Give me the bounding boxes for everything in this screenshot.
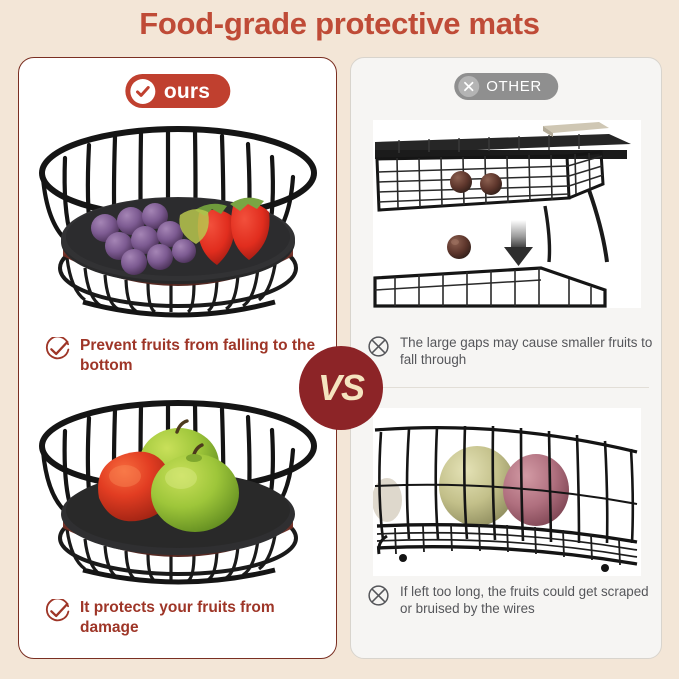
check-circle-icon <box>130 79 155 104</box>
other-drawback-1-text: The large gaps may cause smaller fruits … <box>400 334 655 369</box>
ours-product-photo-apples <box>27 388 329 593</box>
other-drawback-2-text: If left too long, the fruits could get s… <box>400 583 655 618</box>
x-circle-outline-icon <box>367 584 390 612</box>
other-product-photo-bare-wires <box>373 408 641 576</box>
other-panel: OTHER <box>350 57 662 659</box>
ours-benefit-2-text: It protects your fruits from damage <box>80 598 325 638</box>
ours-benefit-1: Prevent fruits from falling to the botto… <box>45 336 325 376</box>
ours-badge: ours <box>125 74 230 108</box>
other-drawback-1: The large gaps may cause smaller fruits … <box>367 334 655 369</box>
other-badge: OTHER <box>454 73 558 100</box>
ours-panel: ours <box>18 57 337 659</box>
x-circle-icon <box>458 76 479 97</box>
vs-badge: VS <box>299 346 383 430</box>
ours-badge-label: ours <box>164 81 210 102</box>
check-circle-outline-icon <box>45 599 70 629</box>
vs-label: VS <box>318 370 364 406</box>
other-badge-label: OTHER <box>486 79 542 94</box>
ours-product-photo-grapes <box>27 118 329 333</box>
other-panel-divider <box>363 387 649 388</box>
title-bar: Food-grade protective mats <box>0 0 679 48</box>
other-drawback-2: If left too long, the fruits could get s… <box>367 583 655 618</box>
page-title: Food-grade protective mats <box>139 6 539 42</box>
other-product-photo-rack-gaps <box>373 120 641 308</box>
ours-benefit-1-text: Prevent fruits from falling to the botto… <box>80 336 325 376</box>
ours-benefit-2: It protects your fruits from damage <box>45 598 325 638</box>
check-circle-outline-icon <box>45 337 70 367</box>
comparison-panels: ours <box>0 50 679 679</box>
